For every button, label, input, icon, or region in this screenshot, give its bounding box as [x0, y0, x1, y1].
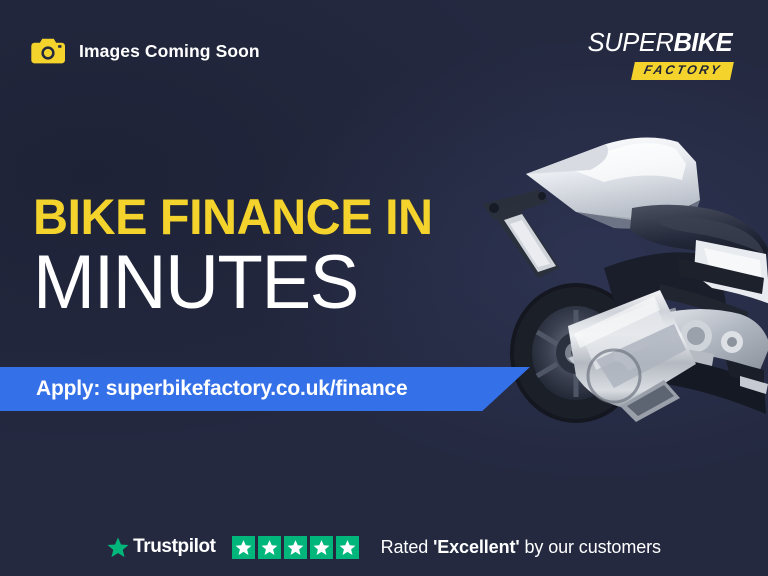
logo-wordmark: SUPERBIKE [588, 31, 732, 57]
star-icon [336, 536, 359, 559]
apply-banner-text: Apply: superbikefactory.co.uk/finance [36, 367, 407, 411]
star-icon [232, 536, 255, 559]
star-icon [310, 536, 333, 559]
star-icon [284, 536, 307, 559]
superbike-factory-logo: SUPERBIKE FACTORY [588, 31, 732, 79]
star-icon [258, 536, 281, 559]
trustpilot-caption: Rated 'Excellent' by our customers [381, 537, 661, 558]
caption-emphasis: 'Excellent' [433, 537, 520, 557]
logo-word-bike: BIKE [673, 29, 732, 57]
images-coming-soon-label: Images Coming Soon [79, 41, 260, 62]
trustpilot-logo: Trustpilot [107, 536, 216, 558]
trustpilot-bar: Trustpilot Rated 'Excellent' by our cust… [0, 518, 768, 576]
apply-cta-banner[interactable]: Apply: superbikefactory.co.uk/finance [0, 367, 530, 411]
trustpilot-wordmark: Trustpilot [133, 536, 216, 558]
logo-word-super: SUPER [588, 29, 674, 57]
images-coming-soon: Images Coming Soon [31, 38, 260, 64]
headline-line-1: BIKE FINANCE IN [33, 192, 433, 242]
caption-after: by our customers [520, 537, 661, 557]
camera-icon [31, 38, 65, 64]
logo-word-factory: FACTORY [642, 64, 722, 77]
trustpilot-inner: Trustpilot Rated 'Excellent' by our cust… [107, 536, 661, 559]
logo-factory-band: FACTORY [631, 62, 734, 80]
headline-block: BIKE FINANCE IN MINUTES [33, 192, 445, 322]
caption-before: Rated [381, 537, 433, 557]
trustpilot-rating-stars [232, 536, 359, 559]
promo-banner: Images Coming Soon SUPERBIKE FACTORY BIK… [0, 0, 768, 576]
headline-line-2: MINUTES [33, 244, 437, 322]
trustpilot-star-icon [107, 537, 129, 558]
